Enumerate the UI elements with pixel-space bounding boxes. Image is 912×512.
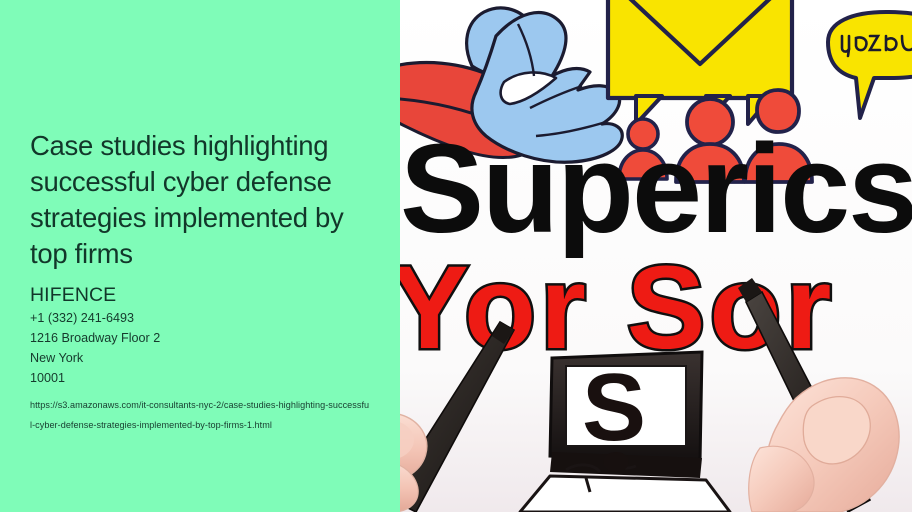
contact-phone[interactable]: +1 (332) 241-6493	[30, 308, 380, 328]
text-block: Case studies highlighting successful cyb…	[30, 128, 380, 435]
left-text-panel: Case studies highlighting successful cyb…	[0, 0, 400, 512]
contact-street: 1216 Broadway Floor 2	[30, 328, 380, 348]
illustration-panel: Superics Yor Sor S	[400, 0, 912, 512]
whiteboard-illustration: Superics Yor Sor S	[400, 0, 912, 512]
headline-black-text: Superics	[400, 118, 912, 259]
contact-postal-code: 10001	[30, 368, 380, 388]
promo-card: Case studies highlighting successful cyb…	[0, 0, 912, 512]
monitor-letter: S	[582, 354, 646, 461]
contact-city: New York	[30, 348, 380, 368]
page-title: Case studies highlighting successful cyb…	[30, 128, 375, 272]
contact-block: +1 (332) 241-6493 1216 Broadway Floor 2 …	[30, 308, 380, 388]
source-url[interactable]: https://s3.amazonaws.com/it-consultants-…	[30, 396, 370, 435]
brand-name: HIFENCE	[30, 283, 380, 307]
monitor-icon: S	[520, 352, 730, 512]
